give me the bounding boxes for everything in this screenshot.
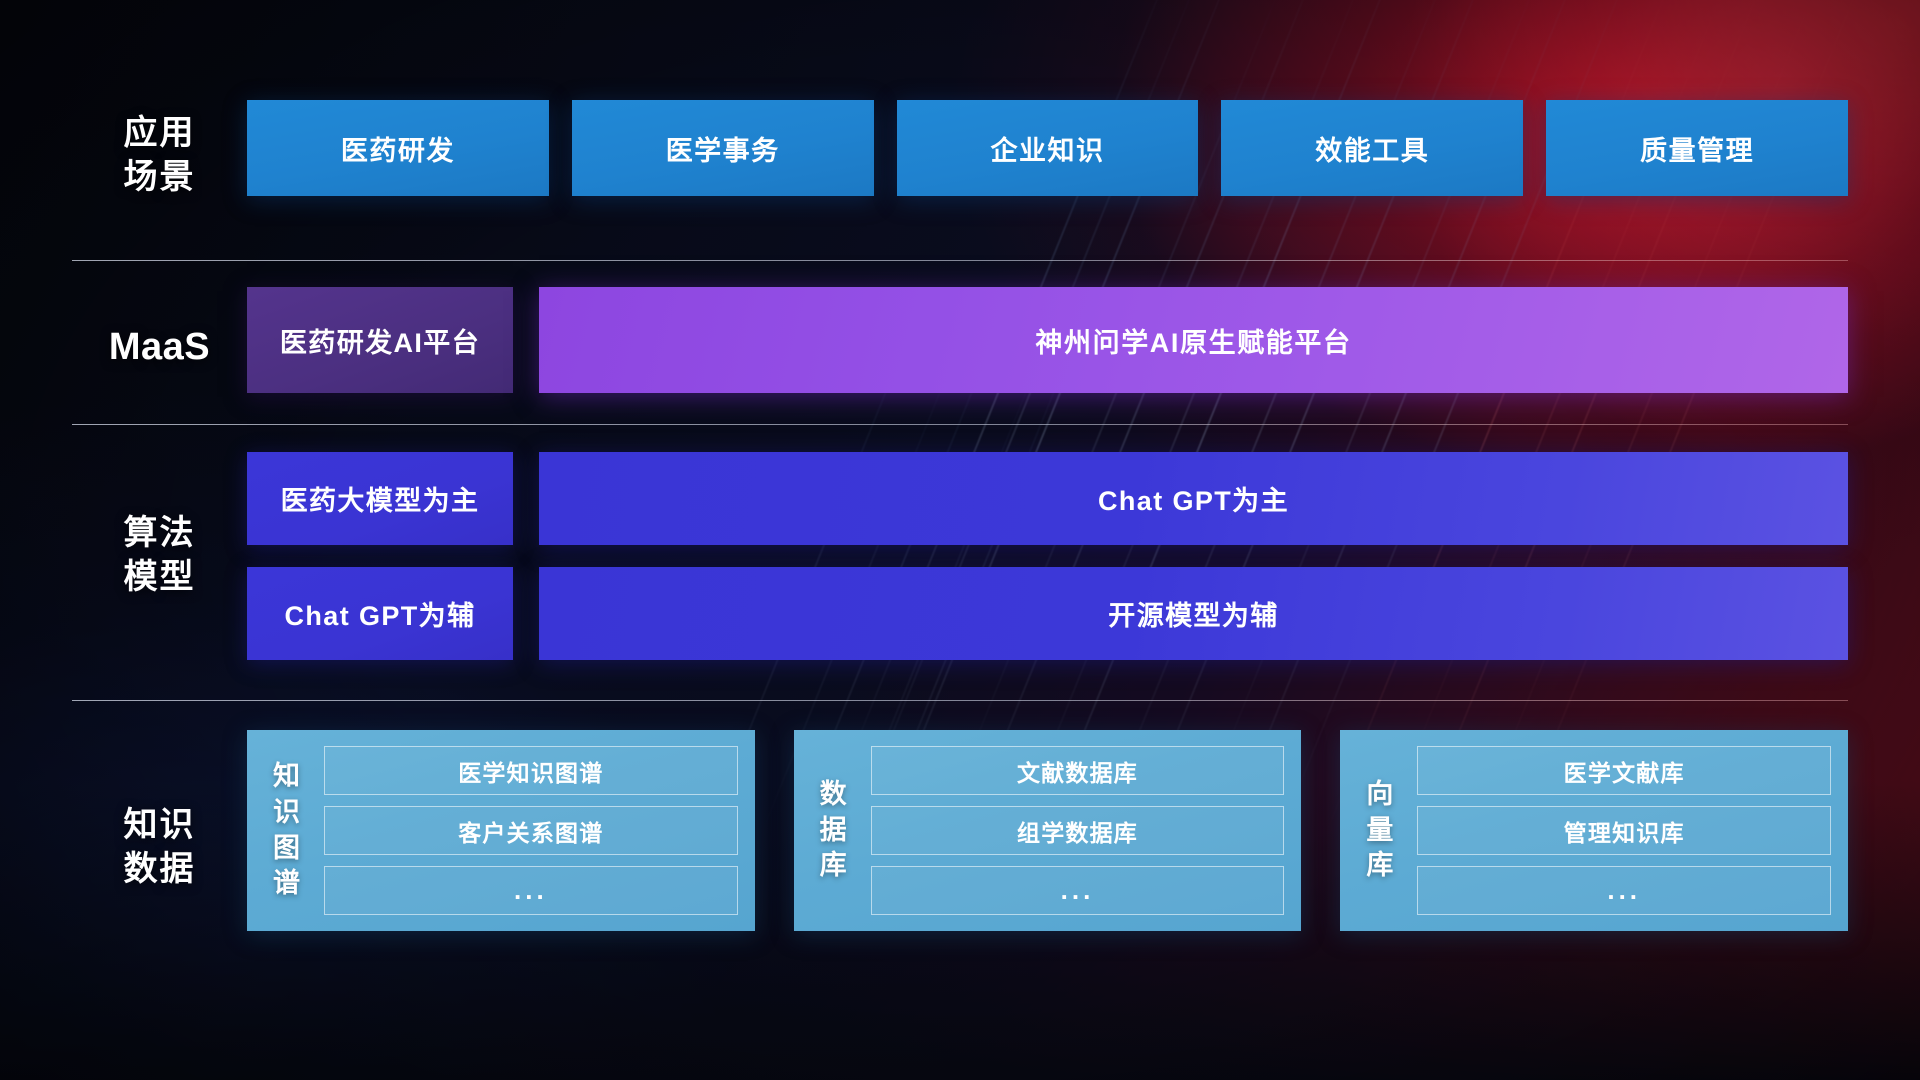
layer-label-line-2: 场景 <box>124 156 196 200</box>
algorithm-models-body: 医药大模型为主 Chat GPT为主 Chat GPT为辅 开源模型为辅 <box>247 452 1848 660</box>
knowledge-group-database: 数据库 文献数据库 组学数据库 ... <box>794 730 1302 931</box>
app-card-enterprise-knowledge[interactable]: 企业知识 <box>897 100 1199 196</box>
layer-algorithm-models: 算法 模型 医药大模型为主 Chat GPT为主 Chat GPT为辅 开源模型… <box>72 452 1848 660</box>
slide-canvas: 应用 场景 医药研发 医学事务 企业知识 效能工具 质量管理 MaaS <box>0 0 1920 1080</box>
knowledge-item-list: 医学知识图谱 客户关系图谱 ... <box>324 746 738 915</box>
knowledge-group-title-char: 谱 <box>273 866 301 902</box>
knowledge-group-title-database: 数据库 <box>811 746 857 915</box>
knowledge-group-list: 知识图谱 医学知识图谱 客户关系图谱 ... 数据库 文献数据库 组学数据库 .… <box>247 730 1848 931</box>
layer-label-knowledge-data: 知识 数据 <box>72 730 247 966</box>
knowledge-group-title-char: 图 <box>273 831 301 867</box>
knowledge-item-medical-literature-store[interactable]: 医学文献库 <box>1417 746 1831 795</box>
knowledge-group-title-vector-store: 向量库 <box>1357 746 1403 915</box>
knowledge-item-medical-knowledge-graph[interactable]: 医学知识图谱 <box>324 746 738 795</box>
layer-label-line-1: 应用 <box>124 112 196 156</box>
knowledge-data-body: 知识图谱 医学知识图谱 客户关系图谱 ... 数据库 文献数据库 组学数据库 .… <box>247 730 1848 966</box>
knowledge-group-title-knowledge-graph: 知识图谱 <box>264 746 310 915</box>
maas-card-pharma-ai-platform[interactable]: 医药研发AI平台 <box>247 287 513 393</box>
algo-card-pharma-large-model-primary[interactable]: 医药大模型为主 <box>247 452 513 545</box>
layer-label-algorithm-models: 算法 模型 <box>72 452 247 660</box>
knowledge-item-list: 文献数据库 组学数据库 ... <box>871 746 1285 915</box>
maas-card-shenzhou-wenxue-platform[interactable]: 神州问学AI原生赋能平台 <box>539 287 1848 393</box>
knowledge-group-title-char: 数 <box>820 777 848 813</box>
knowledge-group-title-char: 量 <box>1366 813 1394 849</box>
application-scenarios-body: 医药研发 医学事务 企业知识 效能工具 质量管理 <box>247 100 1848 212</box>
layer-label-application-scenarios: 应用 场景 <box>72 100 247 212</box>
knowledge-item-literature-database[interactable]: 文献数据库 <box>871 746 1285 795</box>
knowledge-item-omics-database[interactable]: 组学数据库 <box>871 806 1285 855</box>
knowledge-group-title-char: 知 <box>273 759 301 795</box>
knowledge-item-more[interactable]: ... <box>324 866 738 915</box>
layer-label-line-2: 数据 <box>124 848 196 892</box>
app-card-medical-affairs[interactable]: 医学事务 <box>572 100 874 196</box>
algo-card-opensource-secondary[interactable]: 开源模型为辅 <box>539 567 1848 660</box>
knowledge-item-more[interactable]: ... <box>1417 866 1831 915</box>
algorithm-row-secondary: Chat GPT为辅 开源模型为辅 <box>247 567 1848 660</box>
knowledge-item-list: 医学文献库 管理知识库 ... <box>1417 746 1831 915</box>
layer-label-maas: MaaS <box>72 287 247 407</box>
divider-2 <box>72 424 1848 425</box>
knowledge-group-title-char: 向 <box>1366 777 1394 813</box>
algo-card-chatgpt-secondary[interactable]: Chat GPT为辅 <box>247 567 513 660</box>
app-card-medicine-rnd[interactable]: 医药研发 <box>247 100 549 196</box>
divider-1 <box>72 260 1848 261</box>
maas-card-list: 医药研发AI平台 神州问学AI原生赋能平台 <box>247 287 1848 393</box>
algo-card-chatgpt-primary[interactable]: Chat GPT为主 <box>539 452 1848 545</box>
algorithm-row-primary: 医药大模型为主 Chat GPT为主 <box>247 452 1848 545</box>
layer-label-line-1: MaaS <box>109 323 210 372</box>
layer-maas: MaaS 医药研发AI平台 神州问学AI原生赋能平台 <box>72 287 1848 407</box>
knowledge-item-management-knowledge-store[interactable]: 管理知识库 <box>1417 806 1831 855</box>
knowledge-group-title-char: 据 <box>820 813 848 849</box>
divider-3 <box>72 700 1848 701</box>
knowledge-item-customer-relation-graph[interactable]: 客户关系图谱 <box>324 806 738 855</box>
architecture-diagram: 应用 场景 医药研发 医学事务 企业知识 效能工具 质量管理 MaaS <box>0 0 1920 1080</box>
layer-label-line-1: 知识 <box>124 804 196 848</box>
layer-label-line-2: 模型 <box>124 556 196 600</box>
app-card-quality-management[interactable]: 质量管理 <box>1546 100 1848 196</box>
knowledge-group-title-char: 库 <box>820 848 848 884</box>
maas-body: 医药研发AI平台 神州问学AI原生赋能平台 <box>247 287 1848 407</box>
knowledge-item-more[interactable]: ... <box>871 866 1285 915</box>
app-card-efficiency-tools[interactable]: 效能工具 <box>1221 100 1523 196</box>
knowledge-group-knowledge-graph: 知识图谱 医学知识图谱 客户关系图谱 ... <box>247 730 755 931</box>
layer-application-scenarios: 应用 场景 医药研发 医学事务 企业知识 效能工具 质量管理 <box>72 100 1848 212</box>
knowledge-group-title-char: 库 <box>1366 848 1394 884</box>
layer-knowledge-data: 知识 数据 知识图谱 医学知识图谱 客户关系图谱 ... 数据库 <box>72 730 1848 966</box>
knowledge-group-title-char: 识 <box>273 795 301 831</box>
knowledge-group-vector-store: 向量库 医学文献库 管理知识库 ... <box>1340 730 1848 931</box>
application-card-list: 医药研发 医学事务 企业知识 效能工具 质量管理 <box>247 100 1848 196</box>
layer-label-line-1: 算法 <box>124 512 196 556</box>
